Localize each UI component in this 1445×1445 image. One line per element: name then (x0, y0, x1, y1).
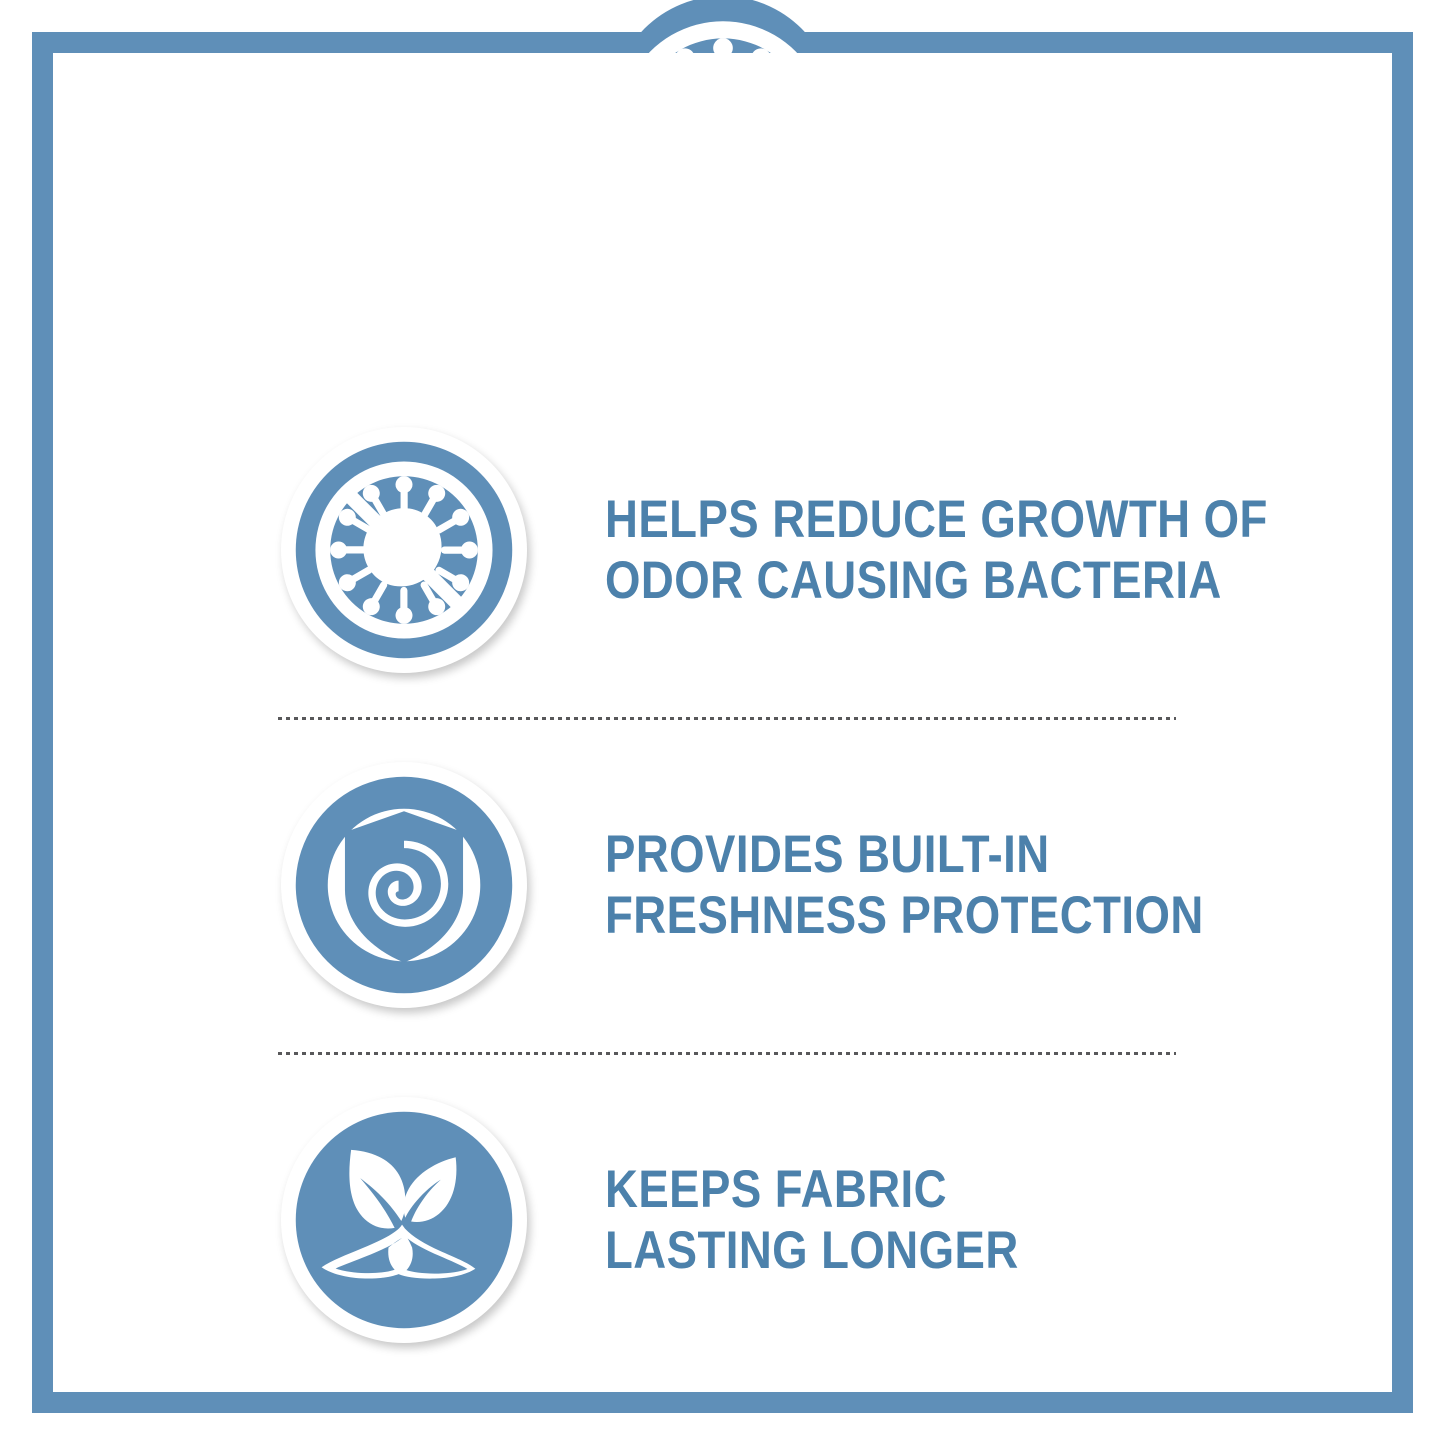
page-title: ANTIMICROBIAL (130, 232, 1315, 318)
feature-row: KEEPS FABRIC LASTING LONGER (53, 1075, 1392, 1365)
feature-row: HELPS REDUCE GROWTH OF ODOR CAUSING BACT… (53, 405, 1392, 695)
divider (278, 717, 1176, 720)
feature-text-line: FRESHNESS PROTECTION (605, 885, 1204, 946)
no-germ-icon (616, 17, 830, 231)
feature-text-line: KEEPS FABRIC (605, 1159, 1019, 1220)
feature-text-line: ODOR CAUSING BACTERIA (605, 550, 1268, 611)
feature-text-line: HELPS REDUCE GROWTH OF (605, 489, 1268, 550)
antimicrobial-infographic: ANTIMICROBIAL (0, 0, 1445, 1445)
feature-text: PROVIDES BUILT-IN FRESHNESS PROTECTION (605, 824, 1204, 947)
feature-text: KEEPS FABRIC LASTING LONGER (605, 1159, 1019, 1282)
feature-icon-wrap (281, 762, 527, 1008)
leaf-sprout-icon (281, 1097, 527, 1343)
feature-text: HELPS REDUCE GROWTH OF ODOR CAUSING BACT… (605, 489, 1268, 612)
feature-text-line: PROVIDES BUILT-IN (605, 824, 1204, 885)
feature-text-line: LASTING LONGER (605, 1220, 1019, 1281)
feature-icon-wrap (281, 1097, 527, 1343)
feature-row: PROVIDES BUILT-IN FRESHNESS PROTECTION (53, 740, 1392, 1030)
feature-icon-wrap (281, 427, 527, 673)
divider (278, 1052, 1176, 1055)
no-germ-icon (281, 427, 527, 673)
shield-swirl-icon (281, 762, 527, 1008)
features-panel: HELPS REDUCE GROWTH OF ODOR CAUSING BACT… (53, 365, 1392, 1392)
